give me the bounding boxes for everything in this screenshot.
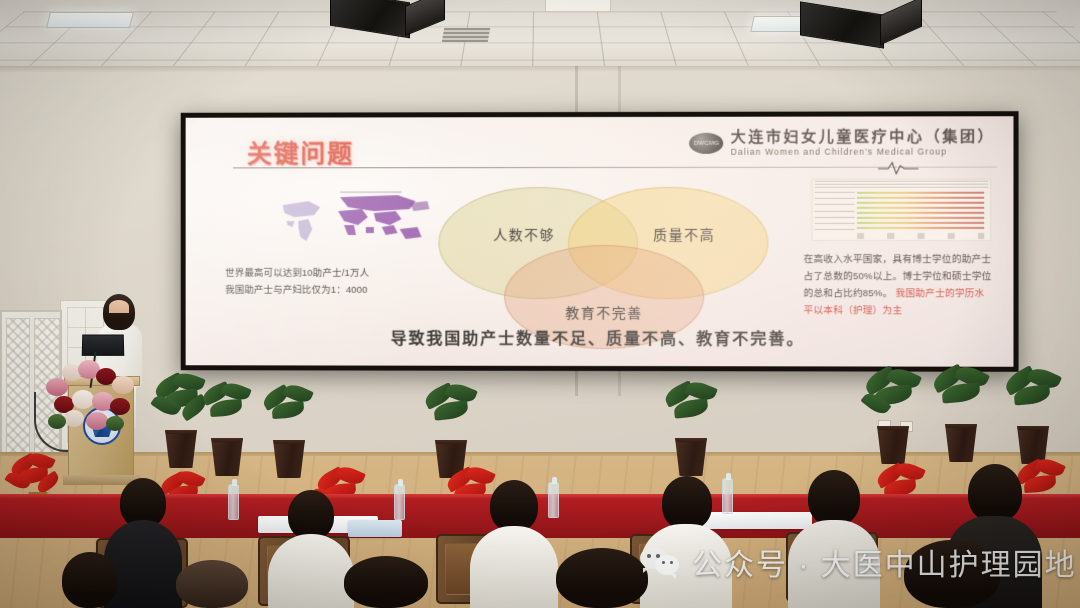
flower [64,410,84,427]
venn-label-a: 人数不够 [493,225,555,245]
handout-paper [348,520,402,537]
chart-bar [857,197,984,199]
logo-mark-icon: DWCMG [690,133,724,154]
projected-slide: 关键问题 DWCMG 大连市妇女儿童医疗中心（集团） Dalian Women … [186,116,1014,367]
audience-head [288,490,334,540]
audience-member-foreground [330,556,450,608]
plant-pot [942,424,980,462]
potted-plant [862,368,924,464]
ceiling-vent [442,28,490,42]
flower [46,378,68,396]
chart-bar [857,222,984,224]
potted-plant [196,380,258,476]
slide-title: 关键问题 [247,134,354,170]
chart-x-axis-legend [857,233,984,239]
flower [72,390,94,409]
divider-panel [6,318,30,466]
audience-head [62,552,118,608]
ceiling [0,0,1080,72]
embedded-bar-chart [812,179,992,241]
heartbeat-pulse-icon [878,161,918,175]
chart-bar [857,217,984,219]
chart-bar [857,202,984,204]
plant-pot [270,440,308,478]
map-caption-line-1: 世界最高可以达到10助产士/1万人 [225,266,453,283]
audience-member-foreground [160,560,270,608]
wall-speaker [156,128,168,144]
audience-head [808,470,860,526]
slide-conclusion-line: 导致我国助产士数量不足、质量不高、教育不完善。 [186,324,1014,349]
presenter-hair [103,294,135,330]
podium-laptop [82,334,125,355]
conference-hall-photo: 关键问题 DWCMG 大连市妇女儿童医疗中心（集团） Dalian Women … [0,0,1080,608]
logo-english-name: Dalian Women and Children's Medical Grou… [731,146,996,157]
map-caption-line-2: 我国助产士与产妇比仅为1：4000 [225,282,453,299]
plant-pot [162,430,200,468]
venn-label-b: 质量不高 [653,225,715,245]
plant-pot [874,426,912,464]
chart-bar [857,207,984,209]
plant-pot [672,438,710,476]
flower [110,398,130,415]
flower [86,412,108,430]
wechat-bubble-small [655,555,679,575]
flower [112,376,134,394]
potted-plant [420,382,482,478]
chart-bar [857,227,984,229]
logo-chinese-name: 大连市妇女儿童医疗中心（集团） [731,130,996,146]
organization-logo: DWCMG 大连市妇女儿童医疗中心（集团） Dalian Women and C… [690,130,996,156]
podium-flower-arrangement [44,356,148,434]
potted-plant [258,382,320,478]
watermark-text: 公众号 · 大医中山护理园地 [692,540,1077,584]
wechat-watermark: 公众号 · 大医中山护理园地 [640,540,1077,584]
audience-head [662,476,712,530]
water-bottle [228,484,239,520]
wechat-icon [640,545,680,579]
audience-head [556,548,648,608]
audience-head [490,480,538,532]
wall-trim [0,66,1080,72]
audience-head [968,464,1022,522]
wechat-dot [647,554,651,558]
world-map-graphic [279,191,433,251]
water-bottle [394,484,405,520]
chart-y-axis-labels [815,192,855,230]
chart-bars [857,192,984,230]
projection-screen-frame: 关键问题 DWCMG 大连市妇女儿童医疗中心（集团） Dalian Women … [181,111,1019,372]
ceiling-fixture [545,0,611,12]
audience-member-foreground [44,552,140,608]
chart-bar [857,192,984,194]
chart-caption-text [815,181,989,190]
potted-plant [1002,368,1064,464]
wechat-dot [662,561,665,564]
map-caption: 世界最高可以达到10助产士/1万人 我国助产士与产妇比仅为1：4000 [225,266,453,299]
chart-plot-area [857,192,984,230]
foliage [106,416,124,431]
wechat-dot [670,561,673,564]
potted-plant [660,380,722,476]
audience-head [176,560,248,608]
audience-member [788,470,880,608]
right-explanatory-text: 在高收入水平国家，具有博士学位的助产士占了总数的50%以上。博士学位和硕士学位的… [804,251,994,320]
chart-bar [857,212,984,214]
potted-plant [930,366,992,462]
wechat-dot [656,554,660,558]
venn-label-c: 教育不完善 [565,303,642,323]
ceiling-light [46,12,134,28]
foliage [48,414,66,429]
audience-head [344,556,428,608]
